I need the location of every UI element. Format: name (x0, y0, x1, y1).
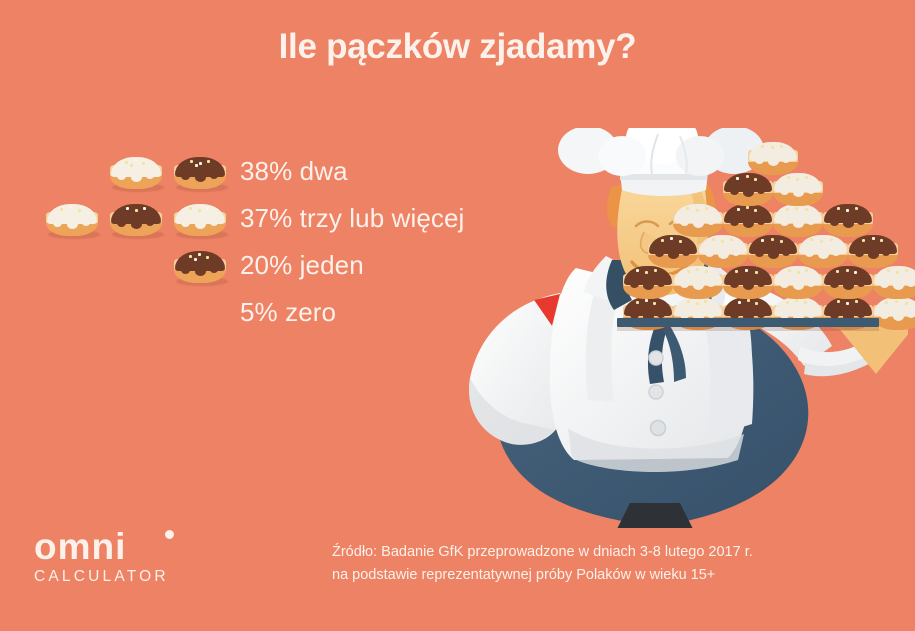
source-note: Źródło: Badanie GfK przeprowadzone w dni… (332, 541, 753, 587)
infographic-canvas: Ile pączków zjadamy? (0, 0, 915, 631)
choco-donut-icon (107, 203, 165, 241)
legend-row: 38% dwa (0, 148, 500, 195)
legend: 38% dwa (0, 148, 500, 336)
pyramid-donut (621, 265, 675, 301)
white-donut-icon (43, 203, 101, 241)
legend-icons (0, 291, 236, 335)
pyramid-donut (721, 203, 775, 239)
pyramid-donut (771, 172, 825, 208)
pyramid-donut (846, 234, 900, 270)
legend-label: 37% trzy lub więcej (236, 203, 464, 234)
white-donut-icon (107, 156, 165, 194)
pyramid-donut (771, 203, 825, 239)
tray-shadow (617, 327, 879, 331)
pyramid-donut (696, 234, 750, 270)
logo-dot-icon (165, 530, 174, 539)
legend-icons (0, 244, 236, 288)
pyramid-donut (871, 265, 915, 301)
logo-wordmark: omni (34, 528, 169, 566)
logo-omni-text: omni (34, 526, 126, 567)
legend-icons (0, 150, 236, 194)
legend-label: 20% jeden (236, 250, 364, 281)
pyramid-donut (746, 234, 800, 270)
donut-pyramid (628, 136, 915, 331)
legend-label: 38% dwa (236, 156, 348, 187)
pyramid-donut (671, 265, 725, 301)
pyramid-donut (771, 265, 825, 301)
source-line-2: na podstawie reprezentatywnej próby Pola… (332, 564, 753, 587)
legend-row: 5% zero (0, 289, 500, 336)
white-donut-icon (171, 203, 229, 241)
pyramid-donut (746, 141, 800, 177)
choco-donut-icon (171, 156, 229, 194)
pyramid-donut (646, 234, 700, 270)
legend-label: 5% zero (236, 297, 336, 328)
legend-row: 20% jeden (0, 242, 500, 289)
pyramid-donut (821, 203, 875, 239)
pyramid-donut (721, 172, 775, 208)
legend-icons (0, 197, 236, 241)
pyramid-row (628, 265, 915, 301)
pyramid-row (628, 234, 915, 270)
serving-tray (617, 318, 879, 327)
pyramid-donut (796, 234, 850, 270)
legend-row: 37% trzy lub więcej (0, 195, 500, 242)
omni-calculator-logo[interactable]: omni CALCULATOR (34, 528, 169, 586)
page-title: Ile pączków zjadamy? (0, 27, 915, 67)
logo-subtitle: CALCULATOR (34, 568, 169, 586)
choco-donut-icon (171, 250, 229, 288)
source-line-1: Źródło: Badanie GfK przeprowadzone w dni… (332, 541, 753, 564)
pyramid-donut (821, 265, 875, 301)
pyramid-row (628, 172, 915, 208)
pyramid-row (628, 203, 915, 239)
pyramid-donut (721, 265, 775, 301)
pyramid-row (628, 141, 915, 177)
pyramid-donut (671, 203, 725, 239)
